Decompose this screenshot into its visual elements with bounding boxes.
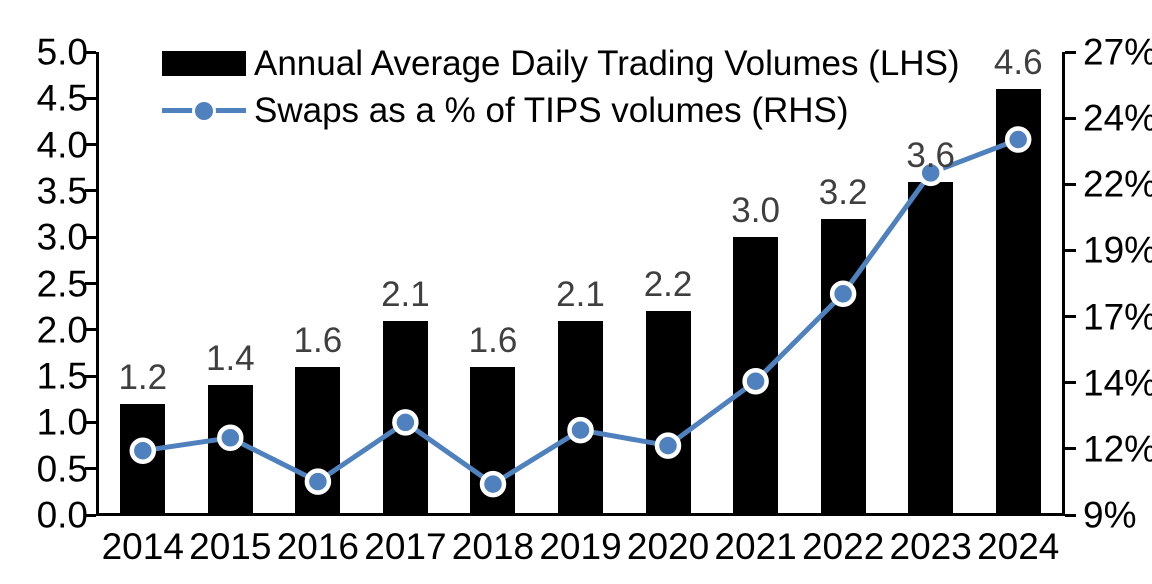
left-axis-tick-label: 1.0 <box>37 404 88 441</box>
line-marker[interactable]: 2024: 23.6% <box>1007 129 1029 151</box>
left-axis-tick-label: 5.0 <box>37 34 88 71</box>
chart-container: 0.00.51.01.52.02.53.03.54.04.55.0 9%12%1… <box>0 0 1152 584</box>
legend-bar-swatch-icon <box>160 40 248 87</box>
legend-item-label: Swaps as a % of TIPS volumes (RHS) <box>248 93 849 128</box>
right-axis-tick-label: 19% <box>1083 232 1152 269</box>
left-axis-tick <box>85 143 96 146</box>
bar-data-label: 2.1 <box>381 277 430 312</box>
bar-data-label: 1.6 <box>469 323 518 358</box>
right-axis-tick-label: 9% <box>1083 497 1136 534</box>
left-axis-tick-label: 0.5 <box>37 450 88 487</box>
right-axis-tick <box>1065 447 1076 450</box>
line-marker[interactable]: 2014: 11.5% <box>132 440 154 462</box>
right-axis-tick <box>1065 514 1076 517</box>
left-axis-tick-label: 1.5 <box>37 358 88 395</box>
line-marker[interactable]: 2019: 12.3% <box>570 419 592 441</box>
left-axis-tick <box>85 51 96 54</box>
right-axis-tick <box>1065 51 1076 54</box>
x-axis-tick-label: 2021 <box>714 528 796 567</box>
bar-data-label: 2.2 <box>644 267 693 302</box>
right-axis-tick-label: 24% <box>1083 100 1152 137</box>
left-axis-tick <box>85 236 96 239</box>
right-axis-tick-label: 27% <box>1083 34 1152 71</box>
x-axis-tick-label: 2020 <box>627 528 709 567</box>
left-axis-tick <box>85 282 96 285</box>
right-axis-tick <box>1065 183 1076 186</box>
right-axis-labels: 9%12%14%17%19%22%24%27% <box>1083 0 1152 584</box>
left-axis-tick-label: 3.5 <box>37 172 88 209</box>
left-axis-tick-label: 4.0 <box>37 126 88 163</box>
left-axis-tick-label: 4.5 <box>37 80 88 117</box>
bar-data-label: 1.4 <box>206 341 255 376</box>
left-axis-tick-label: 0.0 <box>37 497 88 534</box>
left-axis-tick-label: 2.5 <box>37 265 88 302</box>
legend-item-bars[interactable]: Annual Average Daily Trading Volumes (LH… <box>160 40 940 87</box>
right-axis-tick <box>1065 117 1076 120</box>
x-axis-tick-label: 2017 <box>364 528 446 567</box>
line-marker[interactable]: 2015: 12% <box>219 427 241 449</box>
left-axis-tick <box>85 375 96 378</box>
right-axis-tick <box>1065 315 1076 318</box>
x-axis-tick-label: 2018 <box>452 528 534 567</box>
line-marker[interactable]: 2016: 10.3% <box>307 471 329 493</box>
left-axis-tick <box>85 467 96 470</box>
x-axis-tick-label: 2014 <box>102 528 184 567</box>
left-axis-tick-label: 2.0 <box>37 311 88 348</box>
x-axis-tick-label: 2024 <box>977 528 1059 567</box>
x-axis-tick-label: 2016 <box>277 528 359 567</box>
right-axis-tick-label: 17% <box>1083 298 1152 335</box>
right-axis-tick-label: 22% <box>1083 166 1152 203</box>
left-axis-labels: 0.00.51.01.52.02.53.03.54.04.55.0 <box>0 0 88 584</box>
left-axis-tick-label: 3.0 <box>37 219 88 256</box>
chart-legend: Annual Average Daily Trading Volumes (LH… <box>160 40 940 134</box>
bar-data-label: 1.2 <box>118 360 167 395</box>
line-marker[interactable]: 2017: 12.6% <box>394 411 416 433</box>
x-axis-tick-label: 2015 <box>189 528 271 567</box>
line-marker[interactable]: 2020: 11.7% <box>657 435 679 457</box>
x-axis-tick-label: 2023 <box>890 528 972 567</box>
left-axis-tick <box>85 514 96 517</box>
bar-data-label: 3.2 <box>819 175 868 210</box>
right-axis-tick <box>1065 381 1076 384</box>
bar-data-label: 2.1 <box>556 277 605 312</box>
left-axis-tick <box>85 328 96 331</box>
right-axis-tick-label: 12% <box>1083 430 1152 467</box>
line-marker[interactable]: 2021: 14.2% <box>745 370 767 392</box>
left-axis-tick <box>85 97 96 100</box>
bar-data-label: 3.6 <box>906 138 955 173</box>
right-axis-tick <box>1065 249 1076 252</box>
line-marker[interactable]: 2022: 17.6% <box>832 283 854 305</box>
right-axis-tick-label: 14% <box>1083 364 1152 401</box>
x-axis-tick-label: 2022 <box>802 528 884 567</box>
bar-data-label: 4.6 <box>994 45 1043 80</box>
line-marker[interactable]: 2018: 10.2% <box>482 473 504 495</box>
left-axis-tick <box>85 189 96 192</box>
legend-item-label: Annual Average Daily Trading Volumes (LH… <box>248 46 960 81</box>
x-axis-labels: 2014201520162017201820192020202120222023… <box>99 528 1062 580</box>
legend-item-line[interactable]: Swaps as a % of TIPS volumes (RHS) <box>160 87 940 134</box>
legend-line-dot-swatch-icon <box>160 87 248 134</box>
bar-data-label: 1.6 <box>294 323 343 358</box>
bar-data-label: 3.0 <box>731 193 780 228</box>
x-axis-tick-label: 2019 <box>539 528 621 567</box>
left-axis-tick <box>85 421 96 424</box>
